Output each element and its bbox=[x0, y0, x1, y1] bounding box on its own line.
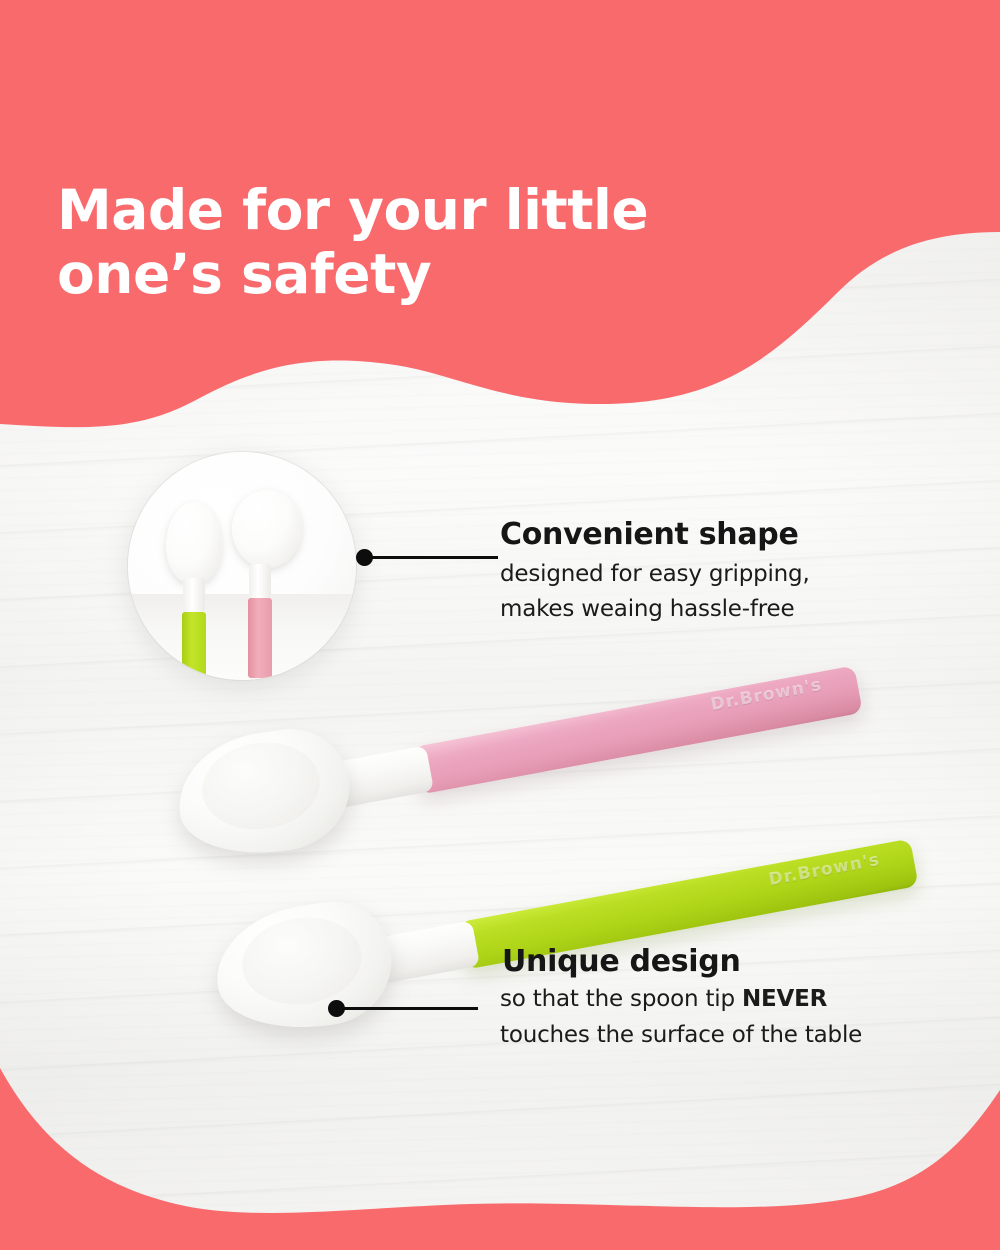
inset-pink-spoon-bowl bbox=[232, 490, 302, 568]
leader-convenient-shape bbox=[356, 549, 498, 566]
inset-pink-spoon-neck bbox=[249, 564, 271, 598]
inset-green-spoon-neck bbox=[183, 578, 205, 612]
inset-pink-spoon bbox=[232, 490, 288, 678]
callout-line-convenient-shape-1: designed for easy gripping, bbox=[500, 561, 810, 587]
callout-line-convenient-shape-2: makes weaing hassle-free bbox=[500, 596, 794, 622]
inset-green-spoon-bowl bbox=[166, 502, 222, 584]
product-infographic-poster: Dr.Brown's Dr.Brown's Made for your litt… bbox=[0, 0, 1000, 1250]
leader-line bbox=[342, 1007, 478, 1010]
page-title: Made for your little one’s safety bbox=[57, 178, 657, 306]
inset-green-spoon bbox=[166, 502, 222, 680]
callout-line-unique-design-1: so that the spoon tip NEVER bbox=[500, 986, 827, 1012]
callout-line-unique-design-1-text: so that the spoon tip bbox=[500, 986, 742, 1012]
leader-unique-design bbox=[328, 1000, 478, 1017]
product-close-up-circle bbox=[128, 452, 356, 680]
leader-line bbox=[370, 556, 498, 559]
callout-title-convenient-shape: Convenient shape bbox=[500, 517, 799, 552]
callout-line-unique-design-2: touches the surface of the table bbox=[500, 1022, 862, 1048]
inset-green-spoon-handle bbox=[182, 612, 206, 680]
callout-emphasis-never: NEVER bbox=[742, 986, 827, 1012]
callout-title-unique-design: Unique design bbox=[502, 944, 741, 979]
inset-pink-spoon-handle bbox=[248, 598, 272, 678]
